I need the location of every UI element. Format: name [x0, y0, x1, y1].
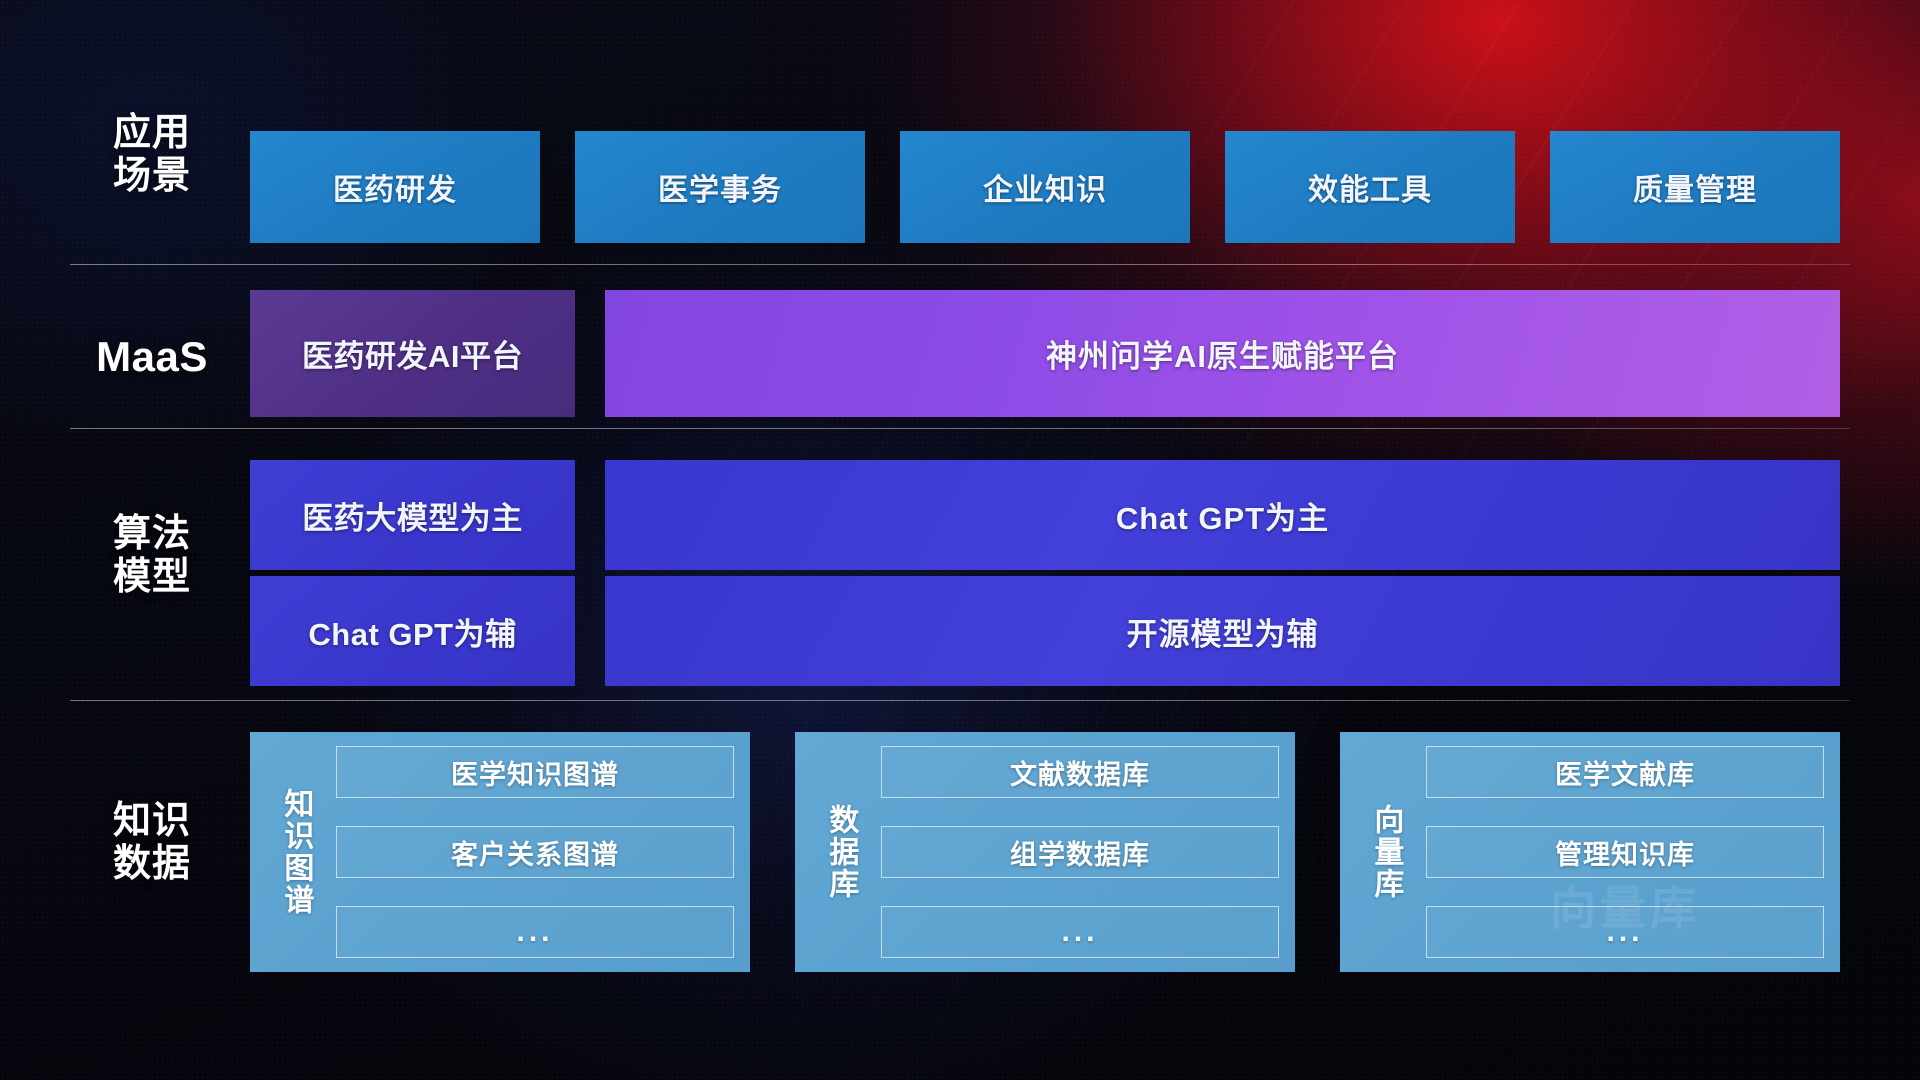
- row-label-line-1: 应用: [92, 112, 212, 155]
- knowledge-panel-items: 医学知识图谱 客户关系图谱 ...: [336, 746, 734, 958]
- row-label-line-2: 场景: [92, 155, 212, 198]
- knowledge-panel-vertical-label: 数据库: [813, 804, 867, 900]
- knowledge-panel-items: 医学文献库 管理知识库 ...: [1426, 746, 1824, 958]
- knowledge-item[interactable]: 组学数据库: [881, 826, 1279, 878]
- maas-box-shenzhou-wenxue-platform[interactable]: 神州问学AI原生赋能平台: [605, 290, 1840, 417]
- row-label-line-2: 模型: [92, 556, 212, 599]
- app-box-efficiency-tools[interactable]: 效能工具: [1225, 131, 1515, 243]
- knowledge-item[interactable]: 客户关系图谱: [336, 826, 734, 878]
- row-label-maas: MaaS: [92, 333, 212, 380]
- knowledge-panel-vertical-label: 向量库: [1358, 804, 1412, 900]
- maas-box-pharma-ai-platform[interactable]: 医药研发AI平台: [250, 290, 575, 417]
- algo-box-chatgpt-primary[interactable]: Chat GPT为主: [605, 460, 1840, 570]
- knowledge-item[interactable]: 医学知识图谱: [336, 746, 734, 798]
- knowledge-item[interactable]: 管理知识库: [1426, 826, 1824, 878]
- algo-box-label: Chat GPT为主: [1116, 493, 1329, 538]
- knowledge-panel-items: 文献数据库 组学数据库 ...: [881, 746, 1279, 958]
- architecture-diagram-slide: 应用 场景 医药研发 医学事务 企业知识 效能工具 质量管理 MaaS 医药研发…: [0, 0, 1920, 1080]
- row-label-application-scenarios: 应用 场景: [92, 112, 212, 197]
- app-box-label: 医药研发: [333, 165, 457, 209]
- divider-after-applications: [70, 264, 1850, 265]
- algo-box-opensource-secondary[interactable]: 开源模型为辅: [605, 576, 1840, 686]
- algo-box-label: 医药大模型为主: [302, 493, 523, 538]
- row-label-text: MaaS: [92, 333, 212, 380]
- knowledge-panel-vector-store[interactable]: 向量库 向量库 医学文献库 管理知识库 ...: [1340, 732, 1840, 972]
- knowledge-item[interactable]: 医学文献库: [1426, 746, 1824, 798]
- row-label-line-1: 知识: [92, 800, 212, 843]
- algo-box-label: 开源模型为辅: [1127, 609, 1319, 654]
- app-box-pharma-rd[interactable]: 医药研发: [250, 131, 540, 243]
- knowledge-panel-database[interactable]: 数据库 文献数据库 组学数据库 ...: [795, 732, 1295, 972]
- app-box-label: 效能工具: [1308, 165, 1432, 209]
- algo-box-label: Chat GPT为辅: [308, 609, 516, 654]
- row-label-line-1: 算法: [92, 513, 212, 556]
- row-label-algorithm-model: 算法 模型: [92, 513, 212, 598]
- maas-box-label: 医药研发AI平台: [302, 331, 523, 376]
- row-label-line-2: 数据: [92, 843, 212, 886]
- knowledge-item-more[interactable]: ...: [336, 906, 734, 958]
- knowledge-item-more[interactable]: ...: [881, 906, 1279, 958]
- knowledge-panel-vertical-label: 知识图谱: [268, 788, 322, 916]
- app-box-label: 医学事务: [658, 165, 782, 209]
- app-box-enterprise-knowledge[interactable]: 企业知识: [900, 131, 1190, 243]
- app-box-label: 质量管理: [1633, 165, 1757, 209]
- row-label-knowledge-data: 知识 数据: [92, 800, 212, 885]
- knowledge-item[interactable]: 文献数据库: [881, 746, 1279, 798]
- divider-after-maas: [70, 428, 1850, 429]
- app-box-label: 企业知识: [983, 165, 1107, 209]
- app-box-medical-affairs[interactable]: 医学事务: [575, 131, 865, 243]
- algo-box-pharma-large-model-primary[interactable]: 医药大模型为主: [250, 460, 575, 570]
- maas-box-label: 神州问学AI原生赋能平台: [1046, 331, 1399, 376]
- algo-box-chatgpt-secondary[interactable]: Chat GPT为辅: [250, 576, 575, 686]
- app-box-quality-management[interactable]: 质量管理: [1550, 131, 1840, 243]
- divider-after-algorithm: [70, 700, 1850, 701]
- knowledge-item-more[interactable]: ...: [1426, 906, 1824, 958]
- knowledge-panel-knowledge-graph[interactable]: 知识图谱 医学知识图谱 客户关系图谱 ...: [250, 732, 750, 972]
